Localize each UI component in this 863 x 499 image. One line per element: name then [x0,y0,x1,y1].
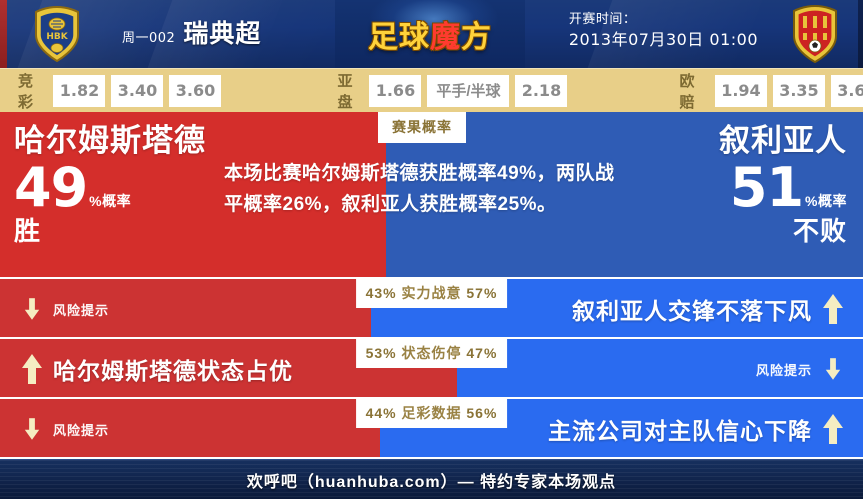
match-summary-text: 本场比赛哈尔姆斯塔德获胜概率49%，两队战平概率26%，叙利亚人获胜概率25%。 [224,158,624,220]
result-probability-panel: 哈尔姆斯塔德 49 %概率 胜 叙利亚人 51 %概率 不败 赛果概率 本场比赛… [0,112,863,277]
up-arrow-icon [823,294,843,324]
home-probability-unit: %概率 [89,194,131,214]
header-left-edge-accent [0,0,7,68]
footer-credit-text: 欢呼吧（huanhuba.com）— 特约专家本场观点 [247,468,616,492]
match-header: HBK 周一002 瑞典超 足球魔方 开赛时间： 2013年07月30日 01:… [0,0,863,68]
row-left-percent: 43% [366,285,397,301]
tab-result-probability[interactable]: 赛果概率 [378,112,466,143]
odds-group-title: 欧赔 [679,70,705,112]
row-left-label: 风险提示 [53,300,109,319]
row-left-bar: 风险提示 [0,279,371,337]
away-probability-number: 51 [730,162,803,214]
home-probability-value: 49 %概率 [14,162,206,214]
odds-cell-home[interactable]: 1.82 [53,75,105,107]
row-left-content: 风险提示 [22,279,109,339]
kickoff-time: 2013年07月30日 01:00 [569,29,758,51]
down-arrow-icon [25,298,39,320]
row-right-label: 叙利亚人交锋不落下风 [572,292,812,326]
euro-odds-cell-home[interactable]: 1.94 [715,75,767,107]
row-left-label: 风险提示 [53,420,109,439]
up-arrow-icon [22,354,42,384]
comparison-row: 风险提示 主流公司对主队信心下降 44% 足彩数据 56% [0,397,863,457]
odds-cell-away[interactable]: 3.60 [169,75,221,107]
down-arrow-icon [25,418,39,440]
away-club-crest-icon [789,4,841,64]
svg-text:HBK: HBK [46,32,68,42]
brand-logo-block: 足球魔方 [335,0,525,68]
row-left-content: 风险提示 [22,399,109,459]
row-right-label: 风险提示 [756,360,812,379]
row-metric-label: 状态伤停 [402,345,462,361]
away-probability-value: 51 %概率 [719,162,847,214]
away-verdict: 不败 [719,215,847,247]
home-team-name: 哈尔姆斯塔德 [14,122,206,160]
away-team-name: 叙利亚人 [719,122,847,160]
match-title-block: 周一002 瑞典超 [122,14,261,50]
row-left-percent: 44% [366,405,397,421]
comparison-row: 风险提示 叙利亚人交锋不落下风 43% 实力战意 57% [0,277,863,337]
home-club-crest-icon: HBK [28,5,86,63]
row-metric-label: 足彩数据 [402,405,462,421]
euro-odds-cell-away[interactable]: 3.66 [831,75,863,107]
away-probability-unit: %概率 [805,194,847,214]
away-probability-block: 叙利亚人 51 %概率 不败 [719,122,847,247]
infographic-root: HBK 周一002 瑞典超 足球魔方 开赛时间： 2013年07月30日 01:… [0,0,863,499]
handicap-cell-line[interactable]: 平手/半球 [427,75,509,107]
brand-logo-text: 足球魔方 [368,12,492,56]
home-verdict: 胜 [14,215,206,247]
header-right-edge-accent [858,0,863,68]
comparison-row: 哈尔姆斯塔德状态占优 风险提示 53% 状态伤停 47% [0,337,863,397]
odds-group-yapan: 亚盘 1.66 平手/半球 2.18 [337,70,567,112]
euro-odds-cell-draw[interactable]: 3.35 [773,75,825,107]
kickoff-label: 开赛时间： [569,9,758,29]
site-footer: 欢呼吧（huanhuba.com）— 特约专家本场观点 [0,459,863,499]
row-metric-chip: 43% 实力战意 57% [356,279,508,308]
row-left-label: 哈尔姆斯塔德状态占优 [53,352,293,386]
row-right-percent: 47% [466,345,497,361]
row-right-content: 主流公司对主队信心下降 [548,399,843,459]
row-right-percent: 57% [466,285,497,301]
row-right-percent: 56% [466,405,497,421]
odds-cell-draw[interactable]: 3.40 [111,75,163,107]
comparison-rows: 风险提示 叙利亚人交锋不落下风 43% 实力战意 57% 哈尔姆斯塔德状态占优 [0,277,863,457]
row-left-content: 哈尔姆斯塔德状态占优 [22,339,293,399]
home-probability-number: 49 [14,162,87,214]
row-right-content: 叙利亚人交锋不落下风 [572,279,843,339]
odds-group-jingcai: 竞彩 1.82 3.40 3.60 [18,70,221,112]
up-arrow-icon [823,414,843,444]
odds-group-title: 亚盘 [337,70,360,112]
odds-group-title: 竞彩 [18,70,44,112]
row-right-label: 主流公司对主队信心下降 [548,412,812,446]
row-metric-chip: 53% 状态伤停 47% [356,339,508,368]
row-right-bar: 风险提示 [457,339,863,397]
handicap-cell-home[interactable]: 1.66 [369,75,421,107]
kickoff-block: 开赛时间： 2013年07月30日 01:00 [569,9,758,51]
handicap-cell-away[interactable]: 2.18 [515,75,567,107]
row-metric-label: 实力战意 [402,285,462,301]
row-left-percent: 53% [366,345,397,361]
down-arrow-icon [826,358,840,380]
match-round-label: 周一002 [122,27,175,46]
row-metric-chip: 44% 足彩数据 56% [356,399,508,428]
row-left-bar: 风险提示 [0,399,380,457]
odds-bar: 竞彩 1.82 3.40 3.60 亚盘 1.66 平手/半球 2.18 欧赔 … [0,68,863,112]
league-name: 瑞典超 [183,14,261,50]
odds-group-oupei: 欧赔 1.94 3.35 3.66 [679,70,863,112]
home-probability-block: 哈尔姆斯塔德 49 %概率 胜 [14,122,206,247]
row-right-content: 风险提示 [756,339,843,399]
